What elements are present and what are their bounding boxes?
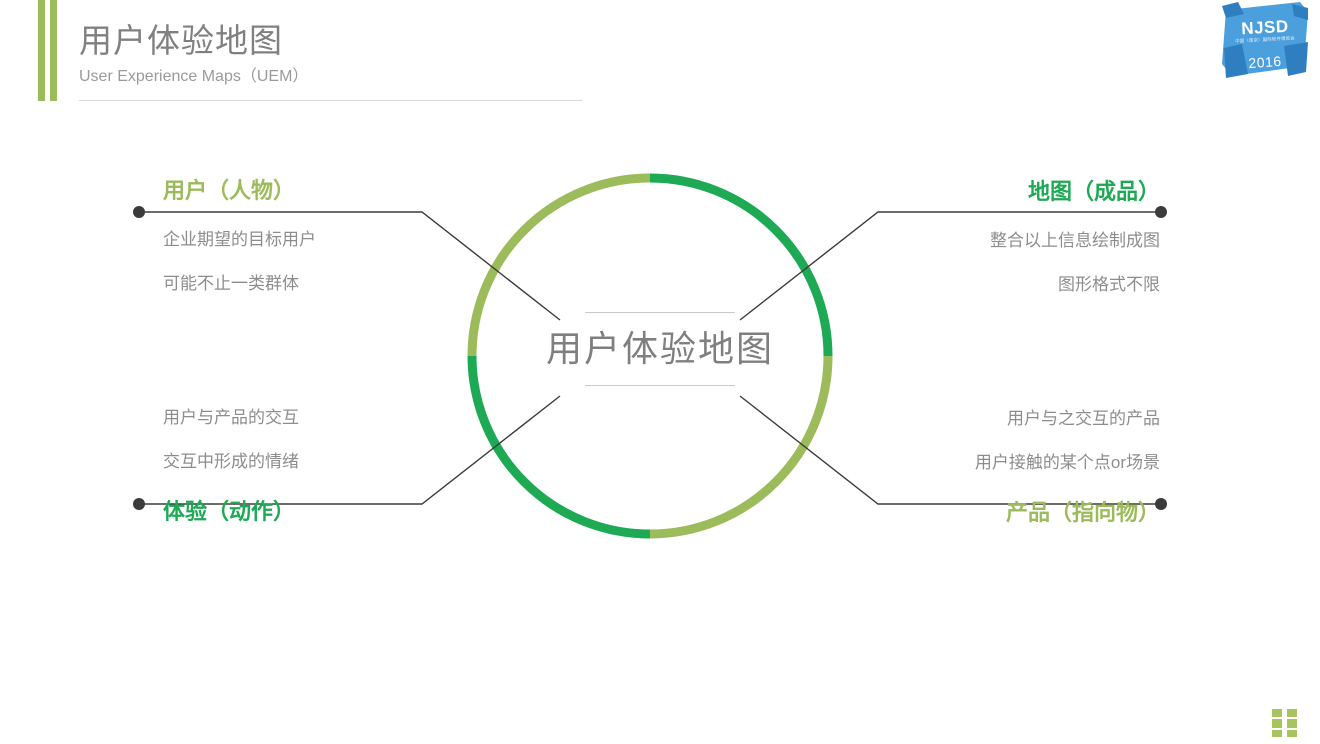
center-title: 用户体验地图	[460, 313, 860, 385]
quadrant-product-line-1: 用户与之交互的产品	[830, 397, 1160, 441]
quadrant-user-description: 企业期望的目标用户 可能不止一类群体	[163, 218, 493, 306]
quadrant-experience-line-2: 交互中形成的情绪	[163, 440, 493, 484]
quadrant-experience[interactable]: 用户与产品的交互 交互中形成的情绪 体验（动作）	[163, 396, 493, 527]
bamboo-logo-shape	[1268, 707, 1302, 739]
quadrant-experience-heading: 体验（动作）	[163, 497, 493, 527]
quadrant-map-description: 整合以上信息绘制成图 图形格式不限	[830, 219, 1160, 307]
quadrant-user-heading: 用户（人物）	[163, 176, 493, 206]
quadrant-map-line-1: 整合以上信息绘制成图	[830, 219, 1160, 263]
quadrant-product-line-2: 用户接触的某个点or场景	[830, 441, 1160, 485]
connector-dot-top-left	[133, 206, 145, 218]
quadrant-user[interactable]: 用户（人物） 企业期望的目标用户 可能不止一类群体	[163, 176, 493, 306]
quadrant-experience-line-1: 用户与产品的交互	[163, 396, 493, 440]
quadrant-user-line-2: 可能不止一类群体	[163, 262, 493, 306]
quadrant-product[interactable]: 用户与之交互的产品 用户接触的某个点or场景 产品（指向物）	[830, 397, 1160, 528]
quadrant-map-line-2: 图形格式不限	[830, 263, 1160, 307]
quadrant-experience-description: 用户与产品的交互 交互中形成的情绪	[163, 396, 493, 484]
quadrant-product-description: 用户与之交互的产品 用户接触的某个点or场景	[830, 397, 1160, 485]
quadrant-user-line-1: 企业期望的目标用户	[163, 218, 493, 262]
uem-diagram: 用户（人物） 企业期望的目标用户 可能不止一类群体 地图（成品） 整合以上信息绘…	[0, 0, 1320, 743]
quadrant-product-heading: 产品（指向物）	[830, 498, 1160, 528]
quadrant-map[interactable]: 地图（成品） 整合以上信息绘制成图 图形格式不限	[830, 177, 1160, 307]
center-rule-bottom	[585, 385, 735, 386]
quadrant-map-heading: 地图（成品）	[830, 177, 1160, 207]
bamboo-logo	[1268, 707, 1302, 739]
connector-dot-bottom-left	[133, 498, 145, 510]
center-label: 用户体验地图	[460, 312, 860, 386]
